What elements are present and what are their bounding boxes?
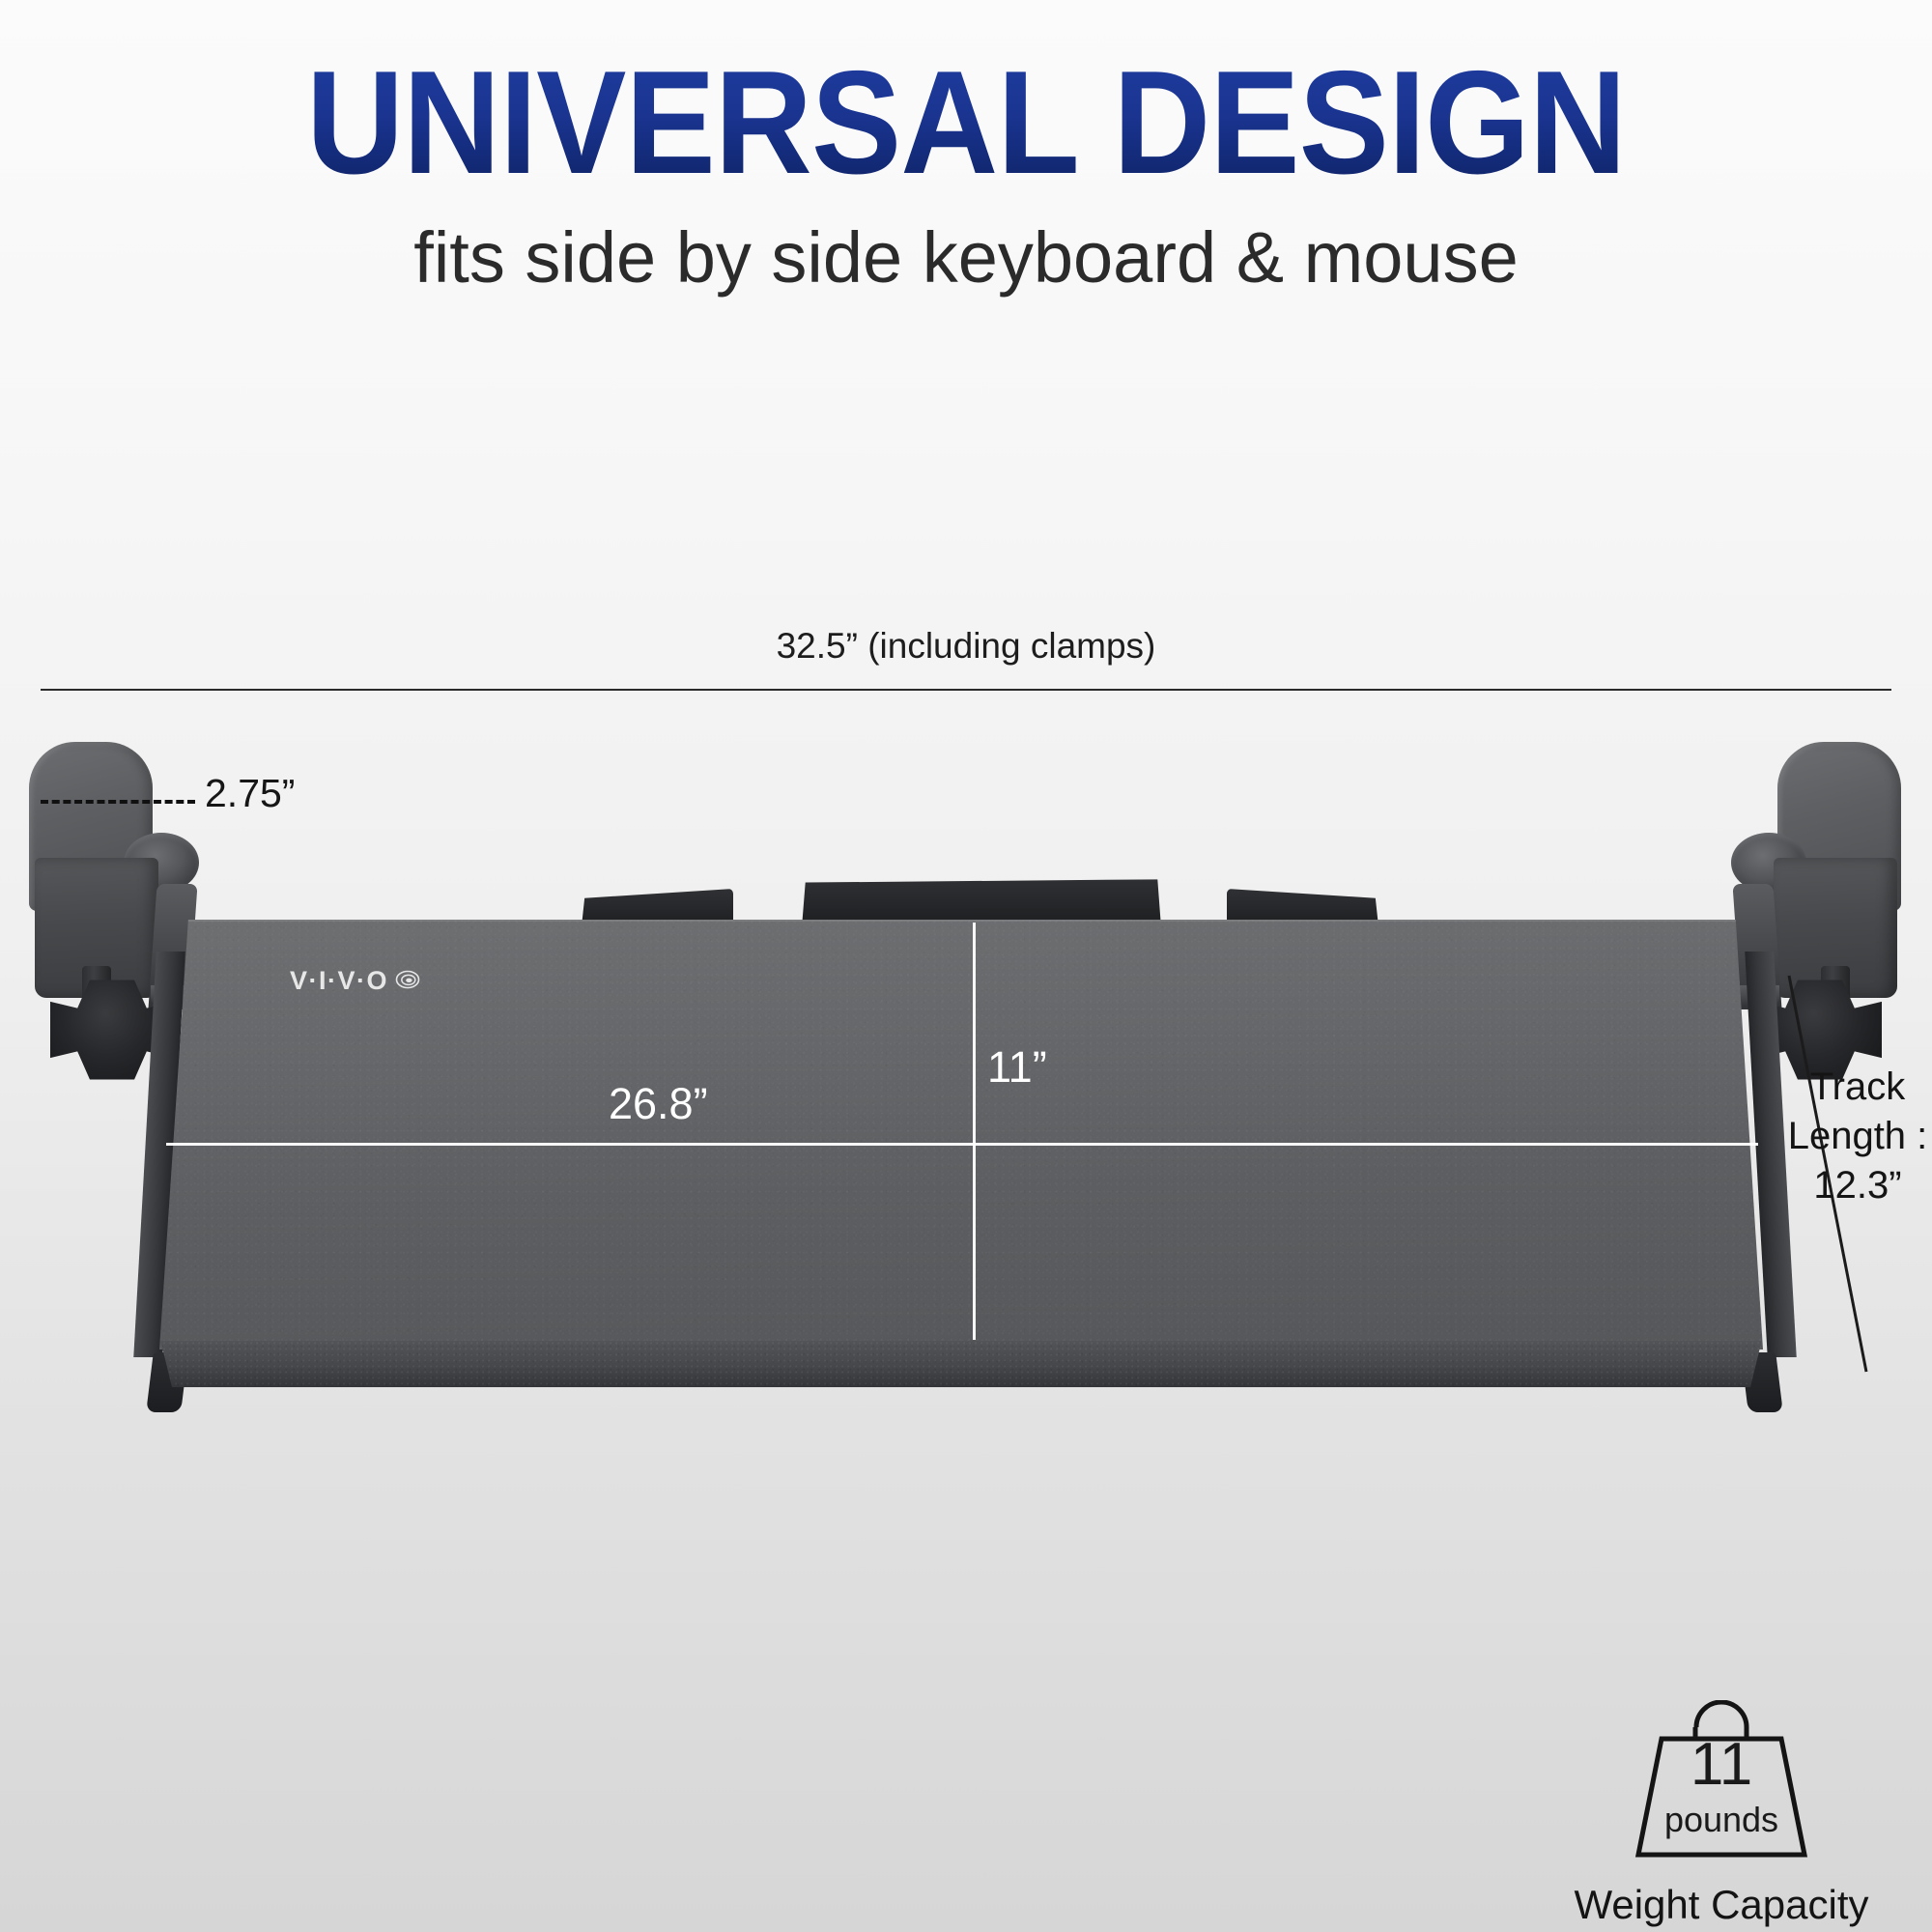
track-length-line-2: Length : [1785, 1112, 1930, 1161]
dimension-line-overall-width [41, 689, 1891, 691]
dimension-line-clamp-opening [41, 800, 195, 804]
rubber-stopper-center [802, 875, 1161, 927]
dimension-label-track-length: Track Length : 12.3” [1785, 1063, 1930, 1211]
measurement-line-horizontal [166, 1143, 1758, 1146]
track-length-line-3: 12.3” [1785, 1161, 1930, 1210]
dimension-label-tray-width: 26.8” [609, 1079, 708, 1129]
weight-capacity-unit: pounds [1596, 1803, 1847, 1837]
weight-capacity-badge: 11 pounds Weight Capacity [1528, 1700, 1915, 1928]
track-length-line-1: Track [1785, 1063, 1930, 1112]
spiral-mark-icon [395, 966, 420, 996]
dimension-label-overall-width: 32.5” (including clamps) [0, 626, 1932, 667]
tray-edge-texture-overlay [157, 1341, 1765, 1387]
keyboard-tray-front-edge [157, 1341, 1765, 1387]
weight-capacity-value: 11 [1596, 1735, 1847, 1795]
vivo-brand-logo: V·I·V·O [290, 966, 420, 996]
dimension-label-tray-depth: 11” [987, 1042, 1047, 1093]
dimension-label-clamp-opening: 2.75” [205, 771, 295, 816]
page-subtitle: fits side by side keyboard & mouse [0, 216, 1932, 298]
vivo-wordmark: V·I·V·O [290, 966, 388, 996]
weight-icon: 11 pounds [1596, 1700, 1847, 1874]
page-title: UNIVERSAL DESIGN [77, 46, 1855, 201]
weight-capacity-caption: Weight Capacity [1528, 1882, 1915, 1928]
measurement-line-vertical [973, 923, 976, 1340]
infographic-canvas: UNIVERSAL DESIGN fits side by side keybo… [0, 0, 1932, 1932]
